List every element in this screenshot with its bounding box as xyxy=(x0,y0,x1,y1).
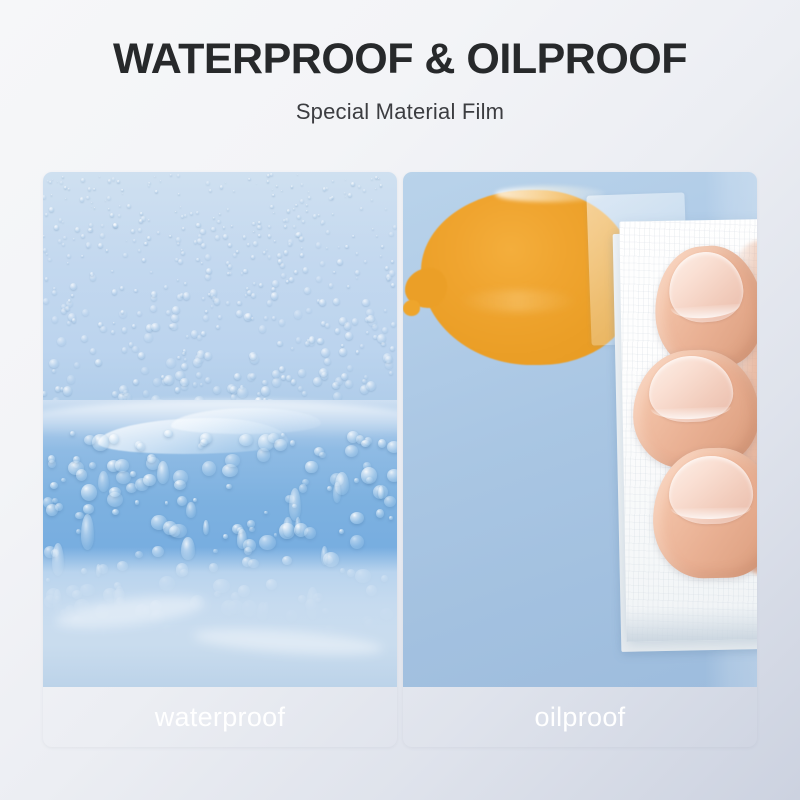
water-drip xyxy=(81,514,95,550)
water-bead xyxy=(347,431,359,444)
water-bead xyxy=(202,461,216,476)
water-drip xyxy=(295,517,301,534)
water-bead xyxy=(350,512,364,524)
water-bead xyxy=(200,439,208,446)
water-bead xyxy=(89,462,96,469)
page-title: WATERPROOF & OILPROOF xyxy=(0,36,800,82)
water-bead xyxy=(174,480,186,490)
water-bead xyxy=(327,486,332,492)
water-streak xyxy=(54,590,206,634)
water-bead xyxy=(81,484,97,501)
water-bead xyxy=(50,482,59,489)
water-bead xyxy=(304,527,316,540)
water-bead xyxy=(177,496,187,506)
hand xyxy=(639,240,757,570)
pooled-water xyxy=(43,547,397,687)
water-bead xyxy=(361,440,370,447)
page-subtitle: Special Material Film xyxy=(0,99,800,125)
water-bead xyxy=(84,435,96,445)
tissue-fold-edge xyxy=(626,604,757,641)
header: WATERPROOF & OILPROOF Special Material F… xyxy=(0,0,800,125)
water-bead xyxy=(274,533,278,537)
oil-spatter xyxy=(403,300,420,316)
water-streak xyxy=(192,624,383,659)
caption-label: oilproof xyxy=(535,702,626,733)
water-bead xyxy=(164,430,173,437)
product-feature-graphic: WATERPROOF & OILPROOF Special Material F… xyxy=(0,0,800,800)
water-bead xyxy=(389,516,394,520)
water-bead xyxy=(239,434,254,447)
water-drip xyxy=(283,517,293,537)
water-bead xyxy=(345,445,359,457)
water-bead xyxy=(163,521,176,535)
water-bead xyxy=(112,509,119,515)
water-drip xyxy=(186,502,196,518)
water-bead xyxy=(361,467,377,484)
water-bead xyxy=(116,471,131,484)
water-bead xyxy=(83,504,94,514)
water-bead xyxy=(387,469,397,482)
oil-gloss-highlight xyxy=(458,290,578,312)
water-drip xyxy=(289,488,301,521)
photo-waterproof xyxy=(43,172,397,687)
caption-label: waterproof xyxy=(155,702,286,733)
panel-oilproof: oilproof xyxy=(403,172,757,747)
water-bead xyxy=(61,478,66,482)
water-bead xyxy=(354,478,359,483)
water-bead xyxy=(193,498,197,502)
water-bead xyxy=(70,431,75,437)
water-bead xyxy=(52,498,58,503)
water-bead xyxy=(225,454,240,466)
water-drip xyxy=(237,529,248,549)
water-bead xyxy=(281,433,285,437)
water-bead xyxy=(223,534,229,539)
photo-oilproof xyxy=(403,172,757,687)
water-drip xyxy=(203,520,209,536)
water-bead xyxy=(378,439,386,447)
water-bead xyxy=(226,484,231,489)
water-bead xyxy=(135,500,140,505)
water-bead xyxy=(305,461,317,474)
water-bead xyxy=(115,459,129,471)
water-bead xyxy=(319,452,326,458)
caption-bar-waterproof: waterproof xyxy=(43,687,397,747)
water-bead xyxy=(376,509,385,518)
water-bead xyxy=(339,529,344,534)
water-drip xyxy=(157,461,169,484)
water-bead xyxy=(249,527,255,532)
water-bead xyxy=(109,434,119,444)
panel-waterproof: waterproof xyxy=(43,172,397,747)
water-bead xyxy=(384,496,396,507)
water-bead xyxy=(264,511,268,515)
water-bead xyxy=(55,503,63,511)
water-bead xyxy=(387,441,397,453)
water-bead xyxy=(299,484,307,492)
water-bead xyxy=(143,474,156,486)
caption-bar-oilproof: oilproof xyxy=(403,687,757,747)
water-bead xyxy=(165,501,169,505)
water-drip xyxy=(98,471,109,492)
water-bead xyxy=(135,441,143,449)
water-bead xyxy=(290,440,296,446)
water-drip xyxy=(333,482,341,503)
water-bead xyxy=(76,469,88,481)
